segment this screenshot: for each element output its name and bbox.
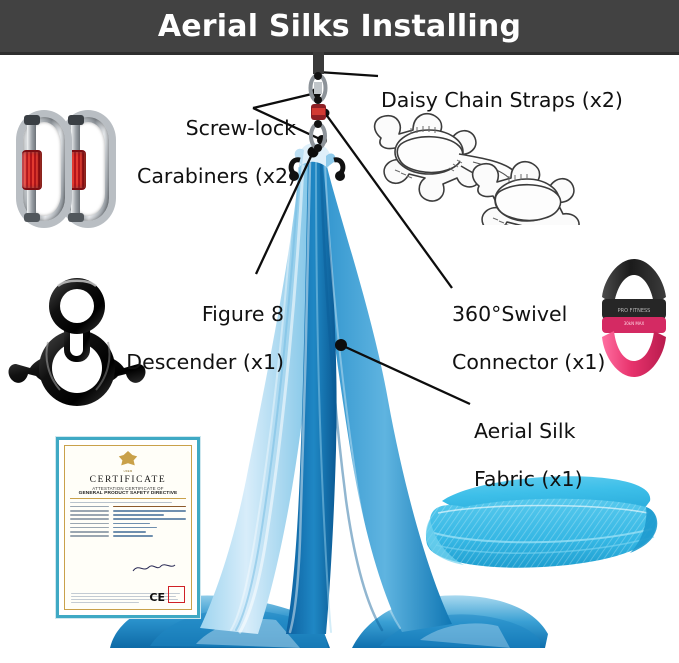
svg-text:PRO FITNESS: PRO FITNESS xyxy=(618,308,651,314)
certificate-signature xyxy=(131,561,177,575)
svg-text:30kN MAX: 30kN MAX xyxy=(624,321,645,326)
infographic-canvas: Aerial Silks Installing xyxy=(0,0,679,663)
certificate-subtitle-2: GENERAL PRODUCT SAFETY DIRECTIVE xyxy=(70,491,186,496)
certificate-fields xyxy=(70,502,186,537)
label-aerial-silk-fabric-line2: Fabric (x1) xyxy=(474,467,583,491)
label-swivel-connector: 360°Swivel Connector (x1) xyxy=(452,278,605,398)
label-figure-8-descender: Figure 8 Descender (x1) xyxy=(0,278,284,398)
leader-daisy-chain xyxy=(318,72,378,76)
certificate-issuer: UDEM xyxy=(70,470,186,473)
label-screw-lock-carabiners-line1: Screw-lock xyxy=(0,116,296,140)
label-swivel-connector-line2: Connector (x1) xyxy=(452,350,605,374)
ce-mark-icon: CE xyxy=(149,592,165,603)
swivel-bottom-ring xyxy=(602,331,666,377)
label-daisy-chain-straps: Daisy Chain Straps (x2) xyxy=(381,64,623,136)
certificate-divider xyxy=(70,498,186,499)
certificate-marks: CE xyxy=(149,586,185,603)
label-swivel-connector-line1: 360°Swivel xyxy=(452,302,605,326)
label-aerial-silk-fabric: Aerial Silk Fabric (x1) xyxy=(474,395,583,515)
label-figure-8-descender-line2: Descender (x1) xyxy=(0,350,284,374)
label-daisy-chain-straps-line1: Daisy Chain Straps (x2) xyxy=(381,88,623,112)
certificate-logo-icon xyxy=(118,451,138,469)
label-aerial-silk-fabric-line1: Aerial Silk xyxy=(474,419,583,443)
daisy-chain-strap-2 xyxy=(473,162,579,225)
certificate-title: CERTIFICATE xyxy=(70,475,186,485)
label-figure-8-descender-line1: Figure 8 xyxy=(0,302,284,326)
ceiling-strap xyxy=(313,52,324,74)
label-screw-lock-carabiners-line2: Carabiners (x2) xyxy=(0,164,296,188)
udem-stamp-icon xyxy=(168,586,185,603)
label-screw-lock-carabiners: Screw-lock Carabiners (x2) xyxy=(0,92,296,212)
certificate-image: UDEM CERTIFICATE ATTESTATION CERTIFICATE… xyxy=(56,437,200,618)
